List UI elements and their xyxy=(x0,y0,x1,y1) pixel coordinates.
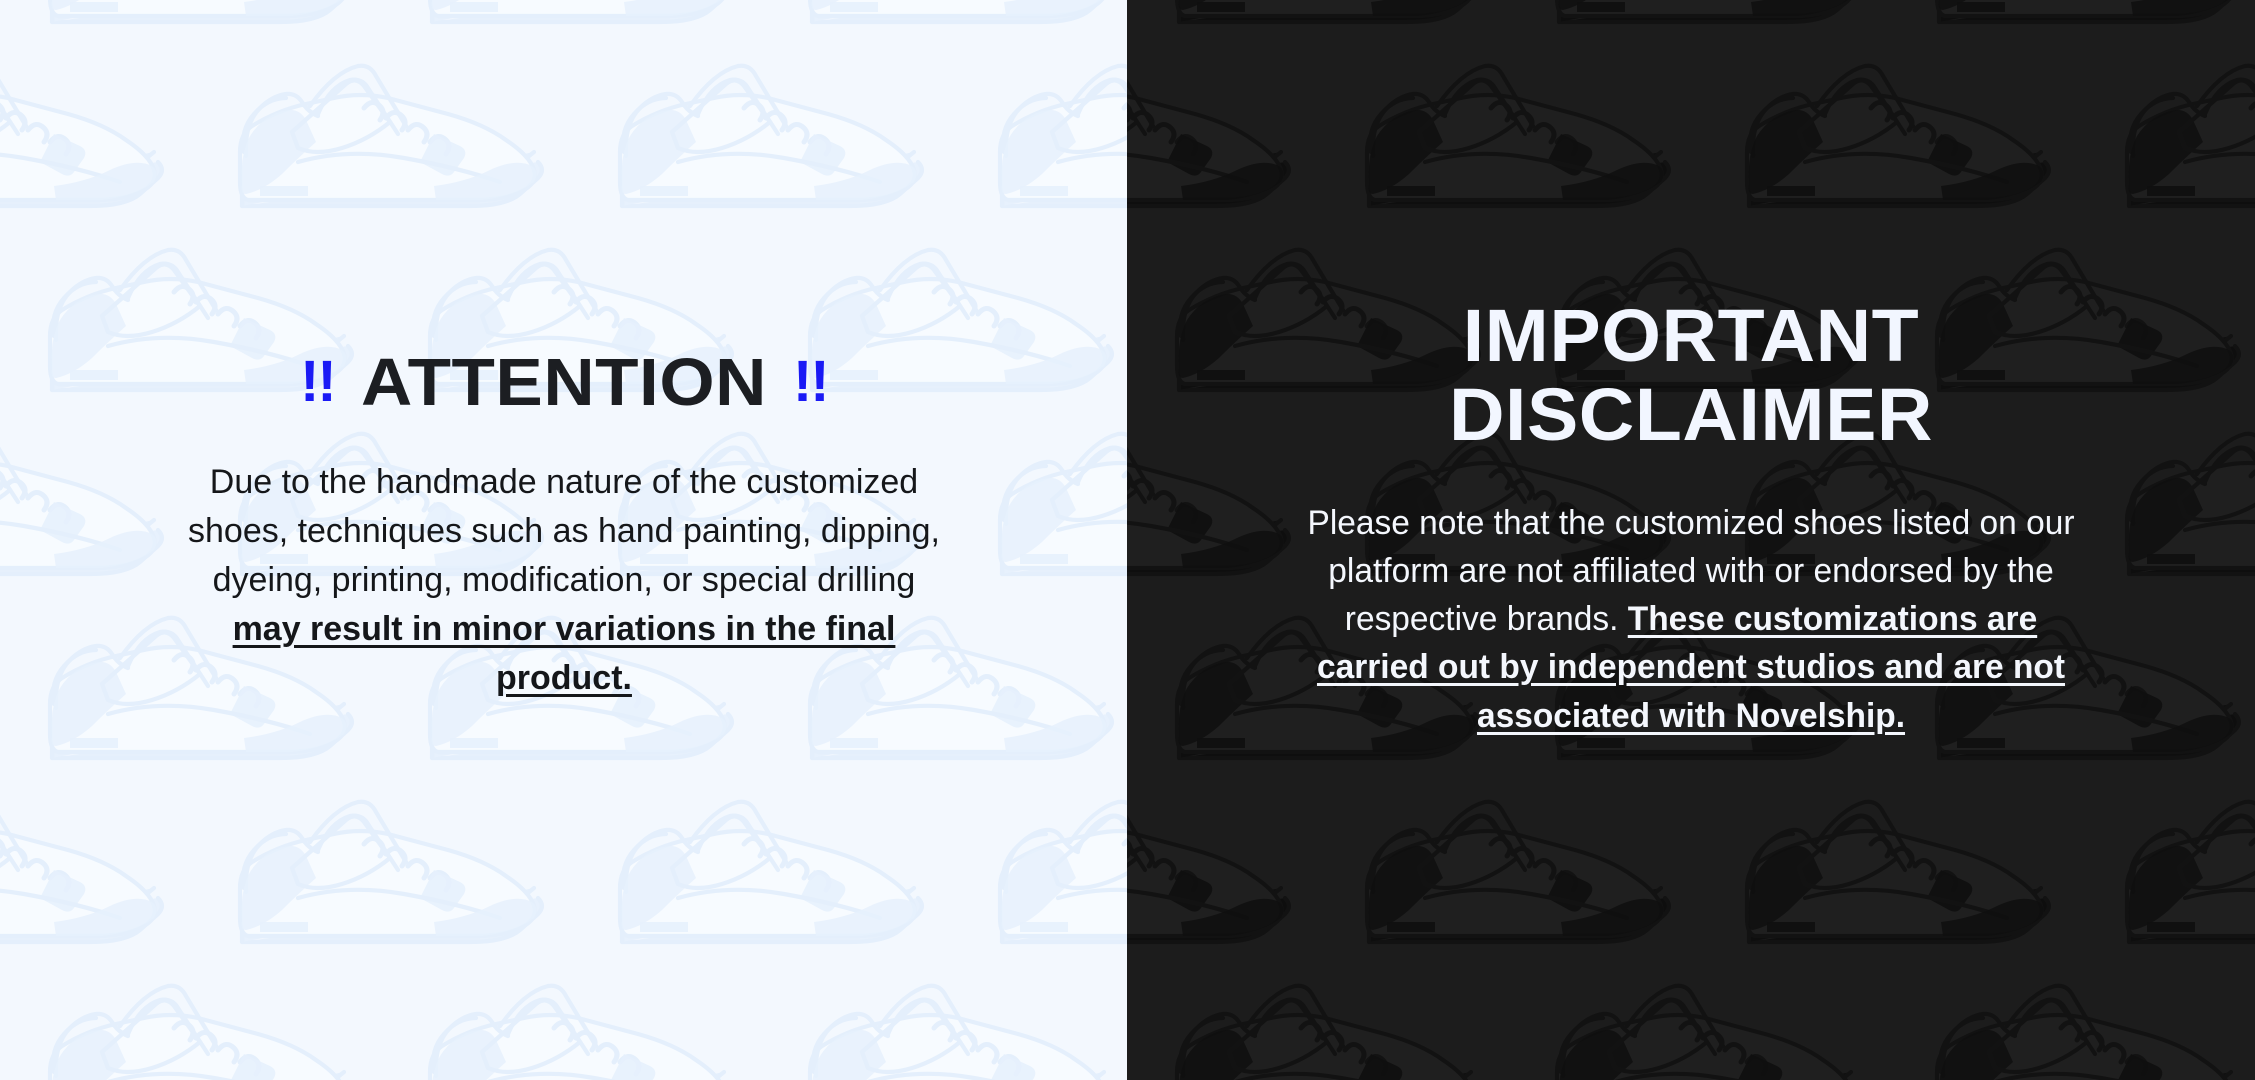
disclaimer-content: IMPORTANT DISCLAIMER Please note that th… xyxy=(1291,296,2091,740)
disclaimer-body: Please note that the customized shoes li… xyxy=(1297,499,2085,740)
attention-heading-text: ATTENTION xyxy=(361,349,767,417)
disclaimer-panel: IMPORTANT DISCLAIMER Please note that th… xyxy=(1127,0,2255,1080)
attention-heading: !! ATTENTION !! xyxy=(145,349,982,417)
disclaimer-heading-line-1: IMPORTANT xyxy=(1275,296,2107,375)
double-exclamation-icon-left: !! xyxy=(300,352,335,411)
attention-body-lead: Due to the handmade nature of the custom… xyxy=(188,463,940,599)
attention-panel: !! ATTENTION !! Due to the handmade natu… xyxy=(0,0,1127,1080)
attention-body-emphasis: may result in minor variations in the fi… xyxy=(232,610,895,697)
double-exclamation-icon-right: !! xyxy=(793,352,828,411)
disclaimer-banner: !! ATTENTION !! Due to the handmade natu… xyxy=(0,0,2255,1080)
disclaimer-heading: IMPORTANT DISCLAIMER xyxy=(1275,296,2107,454)
disclaimer-heading-line-2: DISCLAIMER xyxy=(1275,375,2107,454)
attention-content: !! ATTENTION !! Due to the handmade natu… xyxy=(169,349,959,702)
attention-body: Due to the handmade nature of the custom… xyxy=(174,458,952,703)
